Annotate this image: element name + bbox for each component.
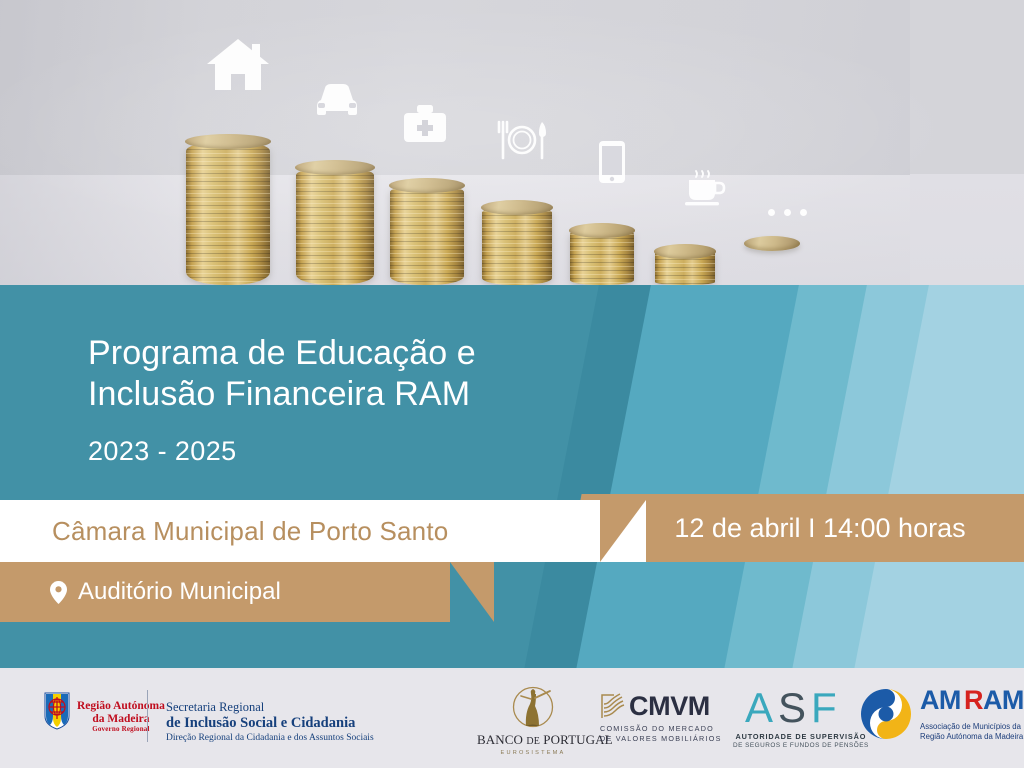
- secretaria-line-3: Direção Regional da Cidadania e dos Assu…: [166, 733, 374, 744]
- logo-banco-de-portugal: BANCO DE PORTUGAL EUROSISTEMA: [477, 686, 589, 756]
- location-pin-icon: [50, 581, 67, 604]
- cmvm-wordmark: CMVM: [629, 693, 710, 720]
- logo-cmvm: CMVM COMISSÃO DO MERCADO DE VALORES MOBI…: [600, 692, 722, 745]
- amram-subtitle: Associação de Municípios da Região Autón…: [920, 722, 1024, 742]
- first-aid-kit-icon: [402, 104, 448, 144]
- svg-text:AM: AM: [983, 686, 1024, 714]
- amram-swirl-icon: [860, 688, 912, 740]
- cmvm-subtitle-line-1: COMISSÃO DO MERCADO: [600, 724, 722, 734]
- asf-subtitle-line-1: AUTORIDADE DE SUPERVISÃO: [733, 732, 869, 741]
- logo-amram: AM R AM Associação de Municípios da Regi…: [860, 686, 1024, 742]
- coffee-cup-icon: [683, 166, 727, 210]
- bdp-word-banco: BANCO: [477, 732, 523, 747]
- hero-image: [0, 0, 1024, 285]
- cmvm-subtitle-line-2: DE VALORES MOBILIÁRIOS: [600, 734, 722, 744]
- event-poster: Programa de Educação e Inclusão Financei…: [0, 0, 1024, 768]
- venue-banner-tip: [600, 500, 646, 562]
- logo-secretaria-regional: Secretaria Regional de Inclusão Social e…: [166, 700, 374, 745]
- room-banner-tip: [450, 562, 494, 622]
- program-years: 2023 - 2025: [88, 436, 476, 467]
- ram-line-2: da Madeira: [77, 713, 165, 726]
- house-icon: [205, 36, 271, 92]
- ram-line-1: Região Autónoma: [77, 700, 165, 713]
- ram-wordmark: Região Autónoma da Madeira Governo Regio…: [77, 688, 165, 734]
- page-title: Programa de Educação e Inclusão Financei…: [88, 333, 476, 416]
- footer-divider: [147, 690, 148, 742]
- date-time-text: 12 de abril I 14:00 horas: [640, 494, 1000, 562]
- asf-subtitle-line-2: DE SEGUROS E FUNDOS DE PENSÕES: [733, 742, 869, 749]
- room-name: Auditório Municipal: [78, 578, 281, 606]
- banco-de-portugal-subtitle: EUROSISTEMA: [477, 750, 589, 756]
- amram-subtitle-line-2: Região Autónoma da Madeira: [920, 732, 1024, 742]
- svg-text:S: S: [778, 688, 806, 730]
- svg-text:AM: AM: [920, 686, 961, 714]
- cmvm-wave-icon: [600, 692, 626, 720]
- secretaria-line-2: de Inclusão Social e Cidadania: [166, 715, 374, 732]
- madeira-crest-icon: [44, 692, 70, 730]
- venue-name: Câmara Municipal de Porto Santo: [52, 500, 448, 562]
- car-icon: [314, 82, 360, 120]
- ellipsis-dots-icon: [768, 209, 807, 216]
- amram-wordmark: AM R AM: [920, 686, 1024, 719]
- asf-wordmark: A S F: [733, 688, 869, 730]
- plate-cutlery-icon: [494, 120, 550, 160]
- main-content-band: Programa de Educação e Inclusão Financei…: [0, 285, 1024, 668]
- smartphone-icon: [598, 140, 626, 184]
- svg-text:R: R: [964, 686, 983, 714]
- cmvm-subtitle: COMISSÃO DO MERCADO DE VALORES MOBILIÁRI…: [600, 724, 722, 745]
- svg-text:F: F: [811, 688, 837, 730]
- room-row: Auditório Municipal: [50, 562, 281, 622]
- banco-de-portugal-emblem-icon: [477, 686, 589, 730]
- amram-subtitle-line-1: Associação de Municípios da: [920, 722, 1024, 732]
- ram-line-3: Governo Regional: [77, 726, 165, 734]
- headline-block: Programa de Educação e Inclusão Financei…: [88, 333, 476, 467]
- banco-de-portugal-wordmark: BANCO DE PORTUGAL: [477, 732, 589, 748]
- logo-asf: A S F AUTORIDADE DE SUPERVISÃO DE SEGURO…: [733, 688, 869, 749]
- bdp-word-de: DE: [526, 736, 540, 747]
- secretaria-line-1: Secretaria Regional: [166, 700, 374, 715]
- cmvm-top-row: CMVM: [600, 692, 722, 720]
- amram-text-block: AM R AM Associação de Municípios da Regi…: [920, 686, 1024, 742]
- svg-text:A: A: [745, 688, 773, 730]
